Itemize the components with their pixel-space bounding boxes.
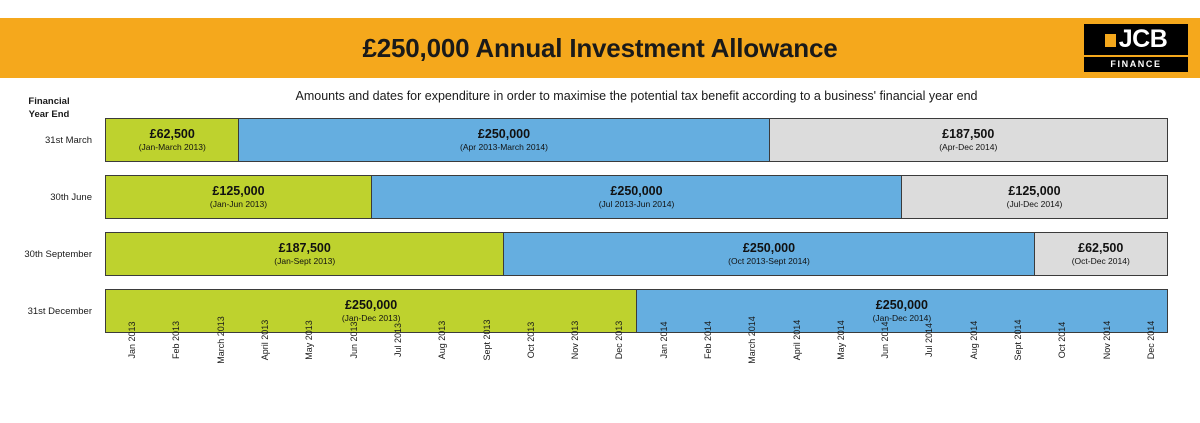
bar-track: £125,000(Jan-Jun 2013)£250,000(Jul 2013-… [105, 175, 1168, 219]
chart-subtitle: Amounts and dates for expenditure in ord… [105, 89, 1168, 103]
x-tick: March 2013 [194, 338, 238, 398]
segment-period: (Jul-Dec 2014) [1007, 199, 1063, 210]
x-tick: Jan 2014 [637, 338, 681, 398]
x-tick-label: Feb 2014 [703, 321, 713, 359]
bar-segment[interactable]: £187,500(Jan-Sept 2013) [105, 232, 505, 276]
x-tick-label: Dec 2014 [1146, 321, 1156, 360]
x-tick: Jun 2013 [326, 338, 370, 398]
x-tick: April 2013 [238, 338, 282, 398]
chart-row: 31st March£62,500(Jan-March 2013)£250,00… [0, 118, 1200, 162]
segment-period: (Jan-Sept 2013) [274, 256, 335, 267]
segment-amount: £250,000 [478, 127, 530, 141]
chart-row: 30th June£125,000(Jan-Jun 2013)£250,000(… [0, 175, 1200, 219]
x-tick-label: Aug 2013 [437, 321, 447, 360]
bar-segment[interactable]: £62,500(Oct-Dec 2014) [1034, 232, 1169, 276]
x-tick: Sept 2013 [459, 338, 503, 398]
segment-amount: £250,000 [743, 241, 795, 255]
bar-segment[interactable]: £125,000(Jan-Jun 2013) [105, 175, 372, 219]
x-tick-label: April 2013 [260, 320, 270, 361]
x-tick: Sept 2014 [991, 338, 1035, 398]
row-label-2: 30th June [0, 175, 98, 219]
segment-period: (Oct 2013-Sept 2014) [728, 256, 810, 267]
page-title: £250,000 Annual Investment Allowance [363, 33, 838, 64]
x-tick-label: Nov 2013 [570, 321, 580, 360]
bar-segment[interactable]: £62,500(Jan-March 2013) [105, 118, 240, 162]
x-tick-label: Oct 2014 [1057, 322, 1067, 359]
segment-amount: £250,000 [610, 184, 662, 198]
segment-period: (Oct-Dec 2014) [1072, 256, 1130, 267]
segment-period: (Jul 2013-Jun 2014) [599, 199, 675, 210]
bar-segment[interactable]: £250,000(Jan-Dec 2013) [105, 289, 637, 333]
x-tick: Nov 2013 [548, 338, 592, 398]
stacked-bar-chart: 31st March£62,500(Jan-March 2013)£250,00… [0, 118, 1200, 333]
x-tick: Jun 2014 [858, 338, 902, 398]
x-tick: Oct 2014 [1035, 338, 1079, 398]
x-tick: Oct 2013 [504, 338, 548, 398]
x-axis-tick-labels: Jan 2013Feb 2013March 2013April 2013May … [105, 338, 1168, 398]
x-tick: Jul 2014 [902, 338, 946, 398]
x-tick: Nov 2014 [1080, 338, 1124, 398]
segment-amount: £125,000 [1008, 184, 1060, 198]
bar-track: £62,500(Jan-March 2013)£250,000(Apr 2013… [105, 118, 1168, 162]
x-tick: Dec 2014 [1124, 338, 1168, 398]
x-tick: Aug 2014 [947, 338, 991, 398]
x-tick-label: Jan 2013 [127, 321, 137, 358]
x-tick: Aug 2013 [415, 338, 459, 398]
x-tick: April 2014 [769, 338, 813, 398]
segment-amount: £250,000 [876, 298, 928, 312]
y-axis-title-line1: Financial [0, 95, 98, 108]
x-tick: Jan 2013 [105, 338, 149, 398]
segment-period: (Jan-March 2013) [139, 142, 206, 153]
logo-brand-text: JCB [1119, 27, 1168, 52]
x-tick-label: Jun 2013 [349, 321, 359, 358]
bar-track: £187,500(Jan-Sept 2013)£250,000(Oct 2013… [105, 232, 1168, 276]
x-tick-label: Jan 2014 [659, 321, 669, 358]
x-tick: Jul 2013 [371, 338, 415, 398]
row-label-4: 31st December [0, 289, 98, 333]
logo-main-box: JCB [1084, 24, 1188, 55]
chart-row: 30th September£187,500(Jan-Sept 2013)£25… [0, 232, 1200, 276]
segment-period: (Apr 2013-March 2014) [460, 142, 548, 153]
row-label-3: 30th September [0, 232, 98, 276]
segment-amount: £62,500 [1078, 241, 1123, 255]
segment-amount: £62,500 [150, 127, 195, 141]
header-banner: £250,000 Annual Investment Allowance JCB… [0, 18, 1200, 78]
segment-amount: £187,500 [942, 127, 994, 141]
bar-segment[interactable]: £125,000(Jul-Dec 2014) [901, 175, 1168, 219]
segment-amount: £250,000 [345, 298, 397, 312]
x-tick-label: Aug 2014 [969, 321, 979, 360]
bar-segment[interactable]: £250,000(Oct 2013-Sept 2014) [503, 232, 1035, 276]
x-tick-label: May 2014 [836, 320, 846, 360]
bar-segment[interactable]: £187,500(Apr-Dec 2014) [769, 118, 1169, 162]
jcb-finance-logo: JCB FINANCE [1084, 24, 1188, 72]
x-tick-label: March 2014 [747, 316, 757, 364]
x-tick: Feb 2013 [149, 338, 193, 398]
x-tick-label: April 2014 [792, 320, 802, 361]
bar-segment[interactable]: £250,000(Apr 2013-March 2014) [238, 118, 770, 162]
jcb-badge-icon [1105, 34, 1116, 47]
x-tick-label: Dec 2013 [614, 321, 624, 360]
x-tick-label: Jul 2013 [393, 323, 403, 357]
x-tick: March 2014 [725, 338, 769, 398]
segment-amount: £125,000 [212, 184, 264, 198]
x-tick: May 2014 [814, 338, 858, 398]
logo-finance-text: FINANCE [1084, 57, 1188, 72]
x-tick-label: Sept 2014 [1013, 319, 1023, 360]
x-tick: Feb 2014 [681, 338, 725, 398]
infographic-page: £250,000 Annual Investment Allowance JCB… [0, 0, 1200, 423]
x-tick-label: Nov 2014 [1102, 321, 1112, 360]
x-tick-label: Jul 2014 [924, 323, 934, 357]
x-tick: May 2013 [282, 338, 326, 398]
x-tick: Dec 2013 [592, 338, 636, 398]
x-tick-label: Jun 2014 [880, 321, 890, 358]
x-tick-label: Sept 2013 [482, 319, 492, 360]
bar-segment[interactable]: £250,000(Jul 2013-Jun 2014) [371, 175, 903, 219]
row-label-1: 31st March [0, 118, 98, 162]
x-tick-label: Feb 2013 [171, 321, 181, 359]
segment-amount: £187,500 [279, 241, 331, 255]
segment-period: (Apr-Dec 2014) [939, 142, 997, 153]
segment-period: (Jan-Jun 2013) [210, 199, 267, 210]
x-tick-label: March 2013 [216, 316, 226, 364]
x-tick-label: May 2013 [304, 320, 314, 360]
bar-segment[interactable]: £250,000(Jan-Dec 2014) [636, 289, 1168, 333]
x-tick-label: Oct 2013 [526, 322, 536, 359]
